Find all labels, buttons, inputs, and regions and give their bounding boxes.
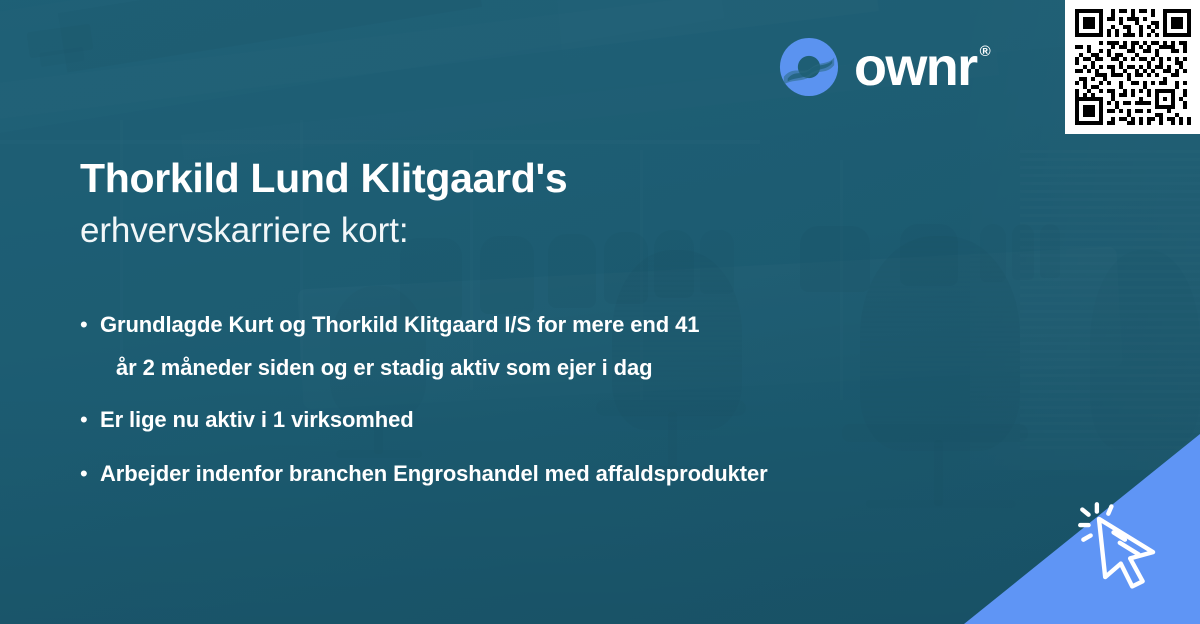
bullet-icon: • xyxy=(80,457,100,491)
registered-trademark-icon: ® xyxy=(980,44,991,59)
bullet-icon: • xyxy=(80,308,100,342)
wordmark-text: ownr xyxy=(854,40,977,94)
career-fact-list: • Grundlagde Kurt og Thorkild Klitgaard … xyxy=(80,308,1040,509)
bullet-icon: • xyxy=(80,403,100,437)
ownr-logo-mark xyxy=(778,36,840,98)
qr-code[interactable] xyxy=(1075,9,1191,125)
list-item: • Er lige nu aktiv i 1 virksomhed xyxy=(80,403,1040,437)
list-item: • Arbejder indenfor branchen Engroshande… xyxy=(80,457,1040,491)
fact-text-line-2: år 2 måneder siden og er stadig aktiv so… xyxy=(100,351,699,385)
list-item: • Grundlagde Kurt og Thorkild Klitgaard … xyxy=(80,308,1040,385)
title-line-2: erhvervskarriere kort: xyxy=(80,209,980,253)
ownr-wordmark: ownr ® xyxy=(854,40,991,94)
page-title: Thorkild Lund Klitgaard's erhvervskarrie… xyxy=(80,156,980,253)
click-cursor-icon xyxy=(1074,496,1178,600)
title-line-1: Thorkild Lund Klitgaard's xyxy=(80,156,980,202)
qr-code-panel[interactable] xyxy=(1065,0,1200,134)
fact-text: Grundlagde Kurt og Thorkild Klitgaard I/… xyxy=(100,308,699,385)
fact-text: Arbejder indenfor branchen Engroshandel … xyxy=(100,457,768,491)
fact-text: Er lige nu aktiv i 1 virksomhed xyxy=(100,403,414,437)
fact-text-line-1: Grundlagde Kurt og Thorkild Klitgaard I/… xyxy=(100,312,699,337)
ownr-logo: ownr ® xyxy=(778,36,991,98)
business-career-card: ownr ® xyxy=(0,0,1200,624)
